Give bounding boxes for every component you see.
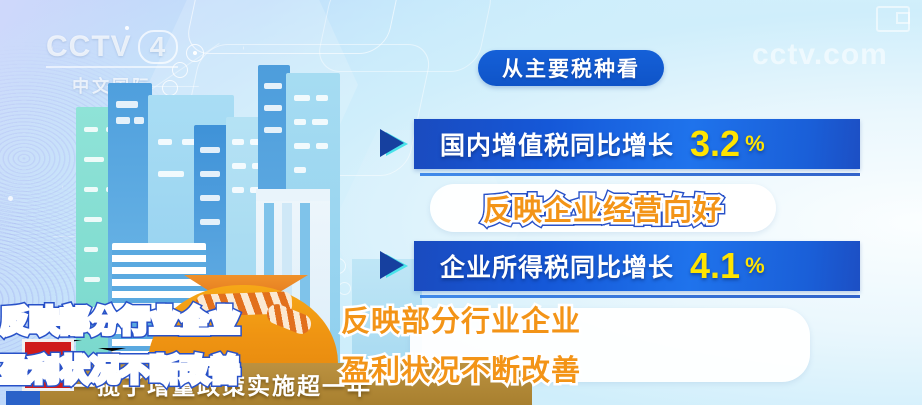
note-text: 反映企业经营向好 反映企业经营向好 反映企业经营向好 [483, 187, 723, 229]
note-text-fill: 反映企业经营向好 [483, 195, 723, 227]
triangle-right-icon [378, 249, 418, 283]
stat-value: 4.1 [690, 248, 740, 284]
note-text-stroke: 反映部分行业企业 [0, 300, 240, 344]
stat-value: 3.2 [690, 126, 740, 162]
section-title-label: 从主要税种看 [502, 53, 640, 83]
section-title-pill: 从主要税种看 [478, 50, 664, 86]
note-text: 盈利状况不断改善 盈利状况不断改善 盈利状况不断改善 [0, 349, 922, 398]
stat-bar: 企业所得税同比增长 4.1 % [414, 241, 860, 291]
note-pill: 反映企业经营向好 反映企业经营向好 反映企业经营向好 [430, 184, 776, 232]
note-text-stroke: 盈利状况不断改善 [0, 349, 240, 393]
stat-unit: % [745, 253, 765, 279]
broadcast-screenshot: CCTV 4 中文国际 cctv.com [0, 0, 922, 405]
stat-bar: 国内增值税同比增长 3.2 % [414, 119, 860, 169]
stat-unit: % [745, 131, 765, 157]
stat-row: 国内增值税同比增长 3.2 % [378, 118, 860, 170]
stat-row: 企业所得税同比增长 4.1 % [378, 240, 860, 292]
triangle-right-icon [378, 127, 418, 161]
note-text: 反映部分行业企业 反映部分行业企业 反映部分行业企业 [0, 300, 922, 349]
note-text-block: 反映部分行业企业 反映部分行业企业 反映部分行业企业 盈利状况不断改善 盈利状况… [0, 300, 922, 398]
stat-label: 企业所得税同比增长 [440, 248, 674, 284]
graphics-overlay: 从主要税种看 国内增值税同比增长 3.2 % 反映企业经营向好 反映企业经营向好… [0, 0, 922, 405]
stat-label: 国内增值税同比增长 [440, 126, 674, 162]
note-text-fill: 盈利状况不断改善 [341, 355, 581, 387]
note-text-fill: 反映部分行业企业 [341, 306, 581, 338]
